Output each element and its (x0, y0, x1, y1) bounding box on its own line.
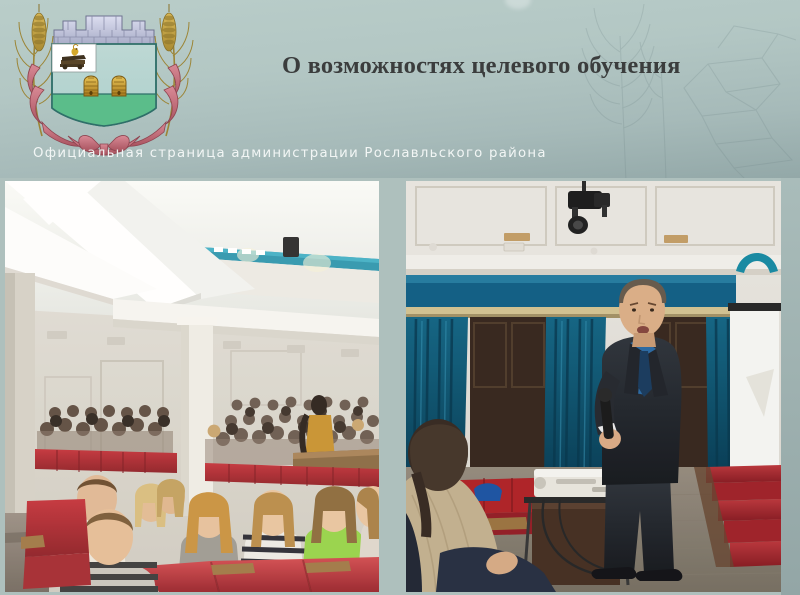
banner-subtitle: Официальная страница администрации Росла… (33, 146, 547, 161)
photo-audience (5, 181, 379, 592)
right-background-edge (781, 178, 800, 595)
photo-strip (0, 178, 800, 595)
wheat-head-left (32, 4, 46, 51)
coat-of-arms-icon (8, 4, 200, 156)
page-title: О возможностях целевого обучения (282, 52, 752, 80)
banner-highlight-oval (505, 0, 531, 9)
wheat-head-right (162, 4, 176, 51)
photo-speaker (406, 181, 781, 592)
canton-smolensk (52, 44, 96, 72)
coat-of-arms-watermark-icon (566, 0, 796, 178)
slide-root: О возможностях целевого обучения Официал… (0, 0, 800, 595)
beehive-right (112, 76, 126, 96)
beehive-left (84, 76, 98, 96)
shield (52, 44, 156, 126)
mural-crown (54, 16, 154, 44)
header-banner: О возможностях целевого обучения Официал… (0, 0, 800, 178)
